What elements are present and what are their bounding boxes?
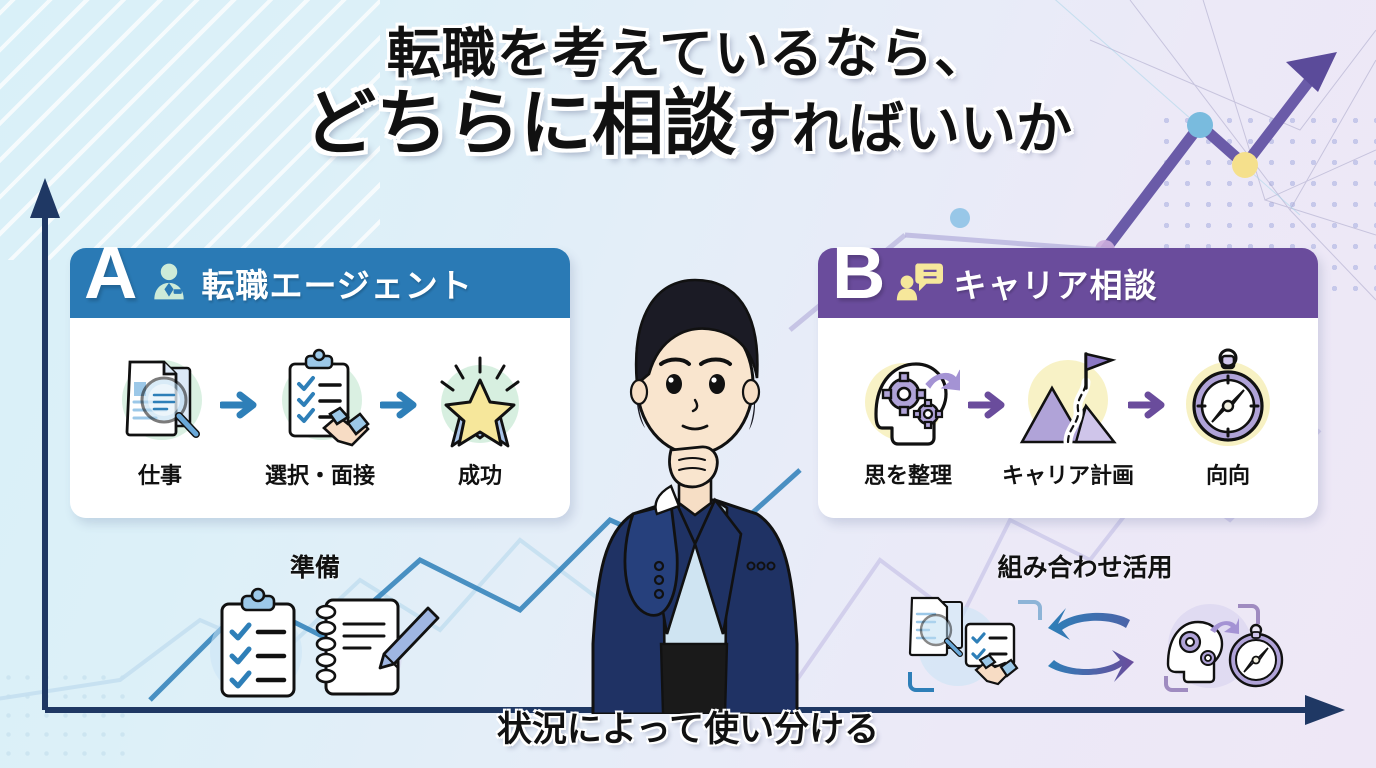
panel-a-arrow-1: [218, 389, 262, 421]
panel-b-step-2-label: キャリア計画: [1002, 458, 1134, 490]
panel-b-header: B キャリア相談: [818, 248, 1318, 318]
panel-b-step-1[interactable]: 思を整理: [852, 342, 964, 490]
arrow-right-icon: [1128, 389, 1168, 421]
panel-b-arrow-2: [1126, 389, 1170, 421]
clipboard-handshake-icon: [268, 342, 372, 460]
panel-a-step-2-label: 選択・面接: [265, 458, 375, 490]
preparation-icons: [190, 586, 440, 706]
thinking-businessperson-illustration: [575, 214, 815, 714]
panel-a-step-3-label: 成功: [458, 458, 502, 490]
arrow-right-icon: [220, 389, 260, 421]
infographic-canvas: 転職を考えているなら、 どちらに相談 すればいいか A 転職エージェント: [0, 0, 1376, 768]
exchange-arrows-icon: [1048, 608, 1134, 682]
subsection-preparation: 準備: [190, 548, 440, 711]
title-line-1: 転職を考えているなら、: [0, 26, 1376, 83]
panel-a-step-2[interactable]: 選択・面接: [264, 342, 376, 490]
subsection-combination: 組み合わせ活用: [880, 548, 1290, 713]
panel-a-body: 仕事: [70, 318, 570, 518]
star-award-icon: [428, 342, 532, 460]
panel-a[interactable]: A 転職エージェント: [70, 248, 570, 518]
bottom-caption: 状況によって使い分ける: [0, 701, 1376, 752]
panel-b-step-3-label: 向向: [1206, 458, 1250, 490]
panel-b-step-1-label: 思を整理: [864, 458, 952, 490]
business-person-icon: [147, 259, 191, 308]
arrow-right-icon: [968, 389, 1008, 421]
document-search-icon: [108, 342, 212, 460]
arrow-right-icon: [380, 389, 420, 421]
panel-b-heading: キャリア相談: [953, 259, 1157, 307]
panel-a-step-1-label: 仕事: [138, 458, 182, 490]
panel-a-step-3[interactable]: 成功: [424, 342, 536, 490]
panel-b[interactable]: B キャリア相談: [818, 248, 1318, 518]
title-rest: すればいいか: [736, 100, 1072, 159]
panel-a-heading: 転職エージェント: [201, 259, 472, 307]
panel-b-body: 思を整理: [818, 318, 1318, 518]
panel-b-letter: B: [832, 244, 885, 302]
panel-a-header: A 転職エージェント: [70, 248, 570, 318]
notebook-pen-icon: [317, 600, 438, 694]
title-highlight: どちらに相談: [304, 87, 736, 163]
panel-a-letter: A: [84, 244, 137, 302]
panel-b-step-3[interactable]: 向向: [1172, 342, 1284, 490]
combination-icons: [880, 588, 1290, 708]
panel-a-step-1[interactable]: 仕事: [104, 342, 216, 490]
panel-a-arrow-2: [378, 389, 422, 421]
mountain-flag-path-icon: [1016, 342, 1120, 460]
title-block: 転職を考えているなら、 どちらに相談 すればいいか: [0, 26, 1376, 162]
subsection-combination-label: 組み合わせ活用: [880, 548, 1290, 584]
bottom-caption-text: 状況によって使い分ける: [497, 710, 879, 749]
head-gears-icon: [856, 342, 960, 460]
checklist-clipboard-icon: [222, 589, 294, 696]
subsection-preparation-label: 準備: [190, 548, 440, 584]
document-search-icon: [910, 598, 962, 655]
compass-icon: [1176, 342, 1280, 460]
panel-b-arrow-1: [966, 389, 1010, 421]
panel-b-step-2[interactable]: キャリア計画: [1012, 342, 1124, 490]
title-line-2: どちらに相談 すればいいか: [0, 87, 1376, 163]
person-speech-bubble-icon: [895, 259, 943, 308]
